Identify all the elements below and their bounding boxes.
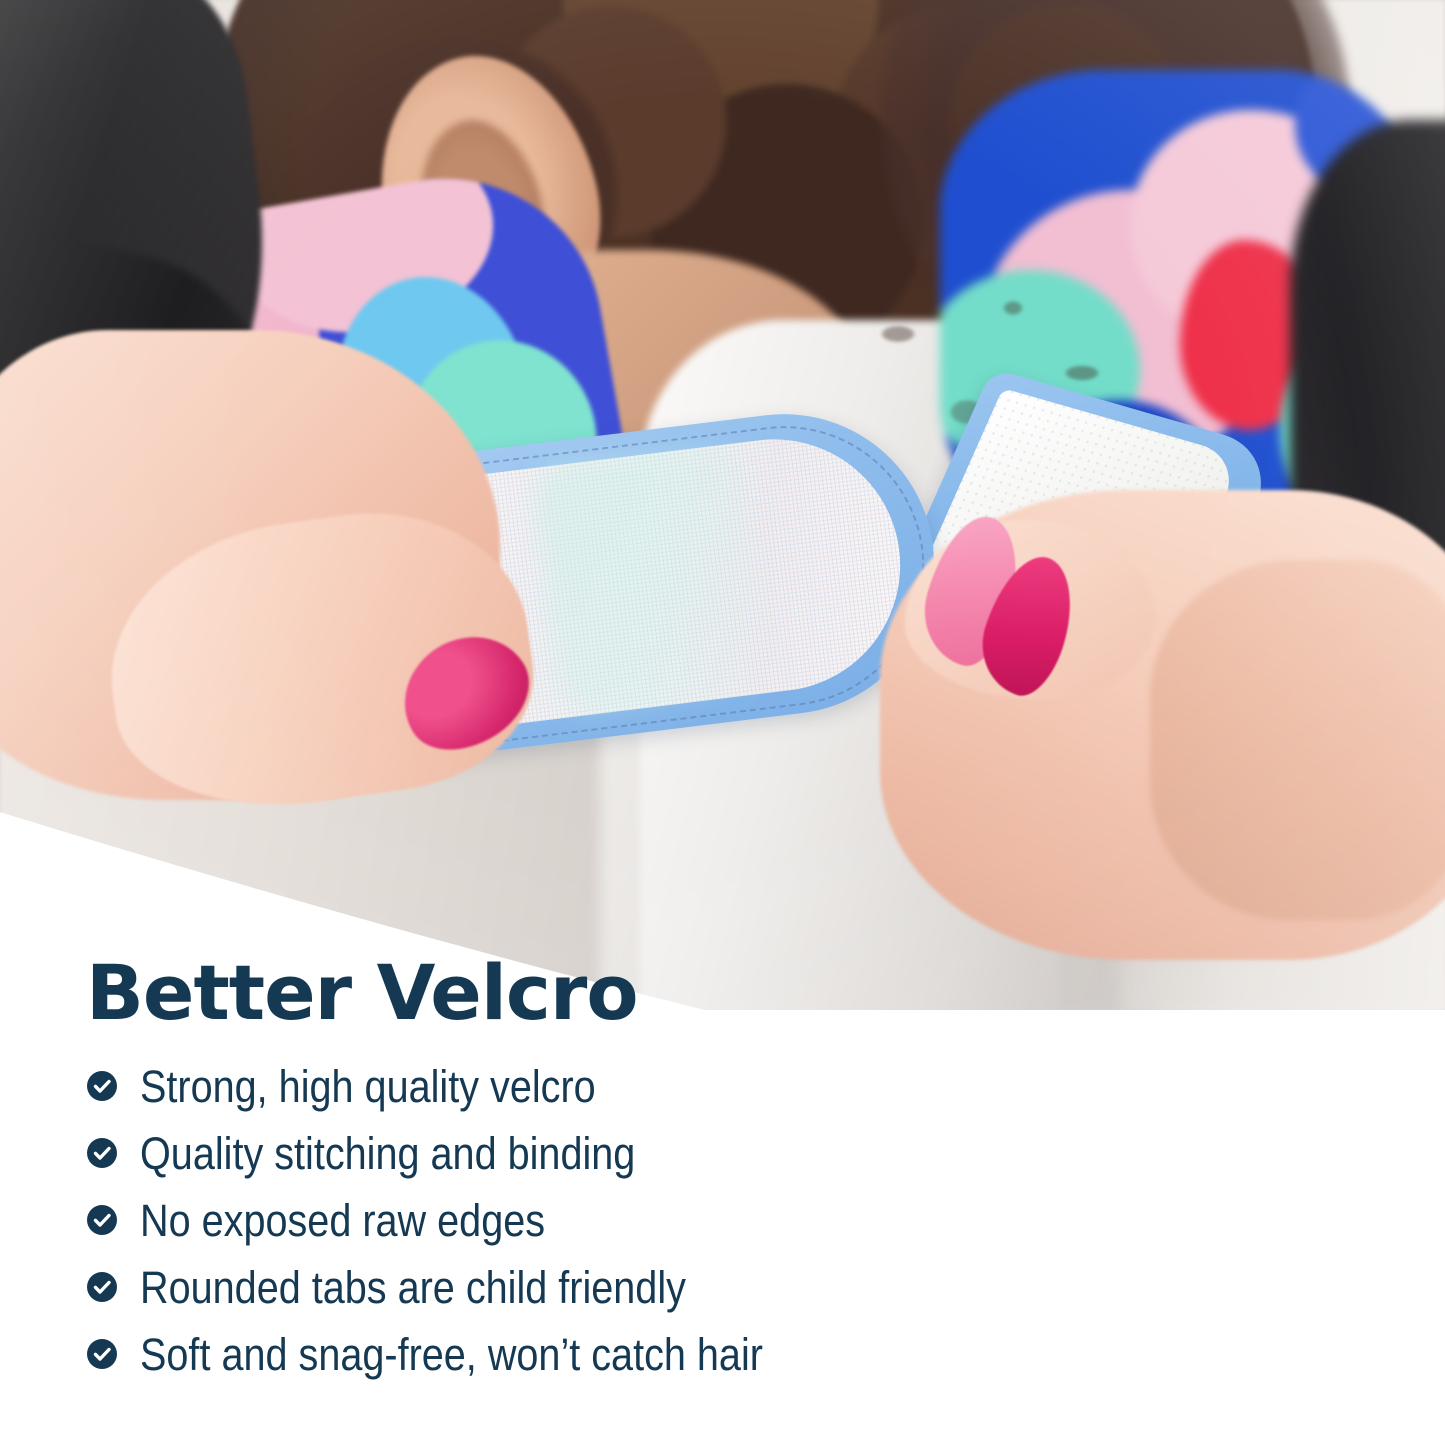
panel-content: Better Velcro Strong, high quality velcr…	[0, 0, 1445, 1445]
list-item-label: No exposed raw edges	[140, 1198, 545, 1243]
list-item: No exposed raw edges	[86, 1189, 848, 1251]
check-circle-icon	[86, 1204, 118, 1236]
list-item: Strong, high quality velcro	[86, 1055, 848, 1117]
check-circle-icon	[86, 1137, 118, 1169]
check-circle-icon	[86, 1338, 118, 1370]
infographic-frame: Better Velcro Strong, high quality velcr…	[0, 0, 1445, 1445]
list-item: Rounded tabs are child friendly	[86, 1256, 848, 1318]
list-item: Soft and snag-free, won’t catch hair	[86, 1323, 848, 1385]
list-item-label: Strong, high quality velcro	[140, 1064, 596, 1109]
page-title: Better Velcro	[86, 955, 638, 1031]
list-item: Quality stitching and binding	[86, 1122, 848, 1184]
check-circle-icon	[86, 1271, 118, 1303]
feature-list: Strong, high quality velcro Quality stit…	[86, 1055, 848, 1390]
list-item-label: Quality stitching and binding	[140, 1131, 635, 1176]
check-circle-icon	[86, 1070, 118, 1102]
list-item-label: Rounded tabs are child friendly	[140, 1265, 686, 1310]
list-item-label: Soft and snag-free, won’t catch hair	[140, 1332, 763, 1377]
